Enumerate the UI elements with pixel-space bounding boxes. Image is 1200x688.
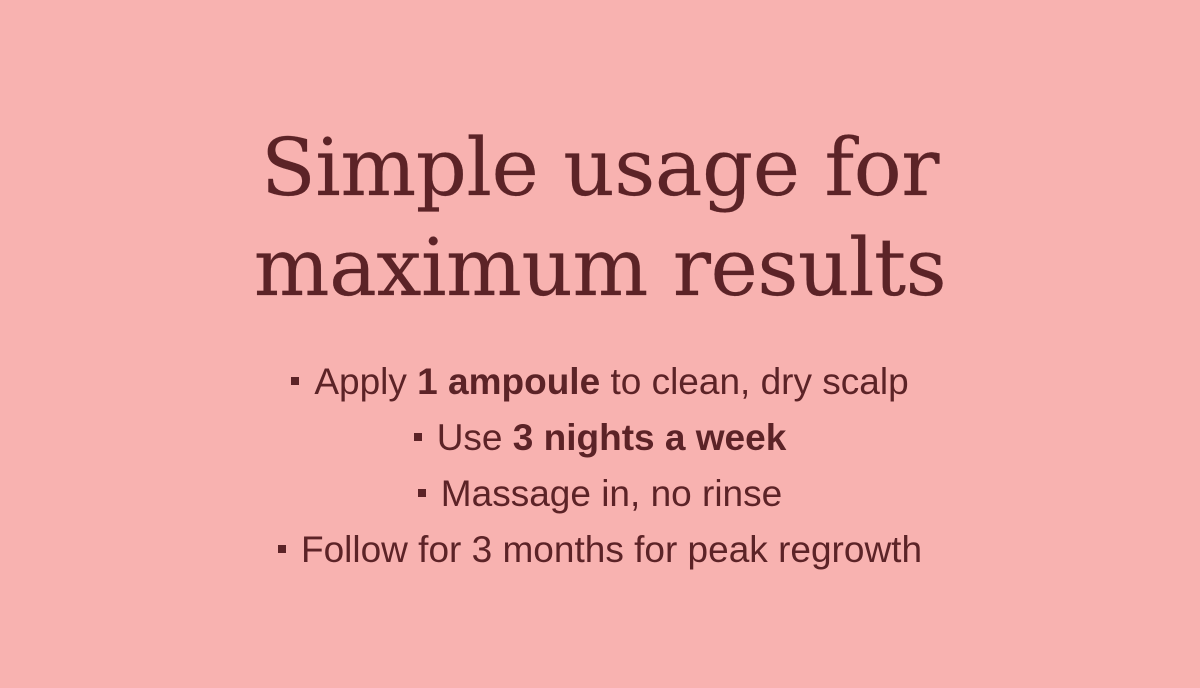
list-item-text-before: Apply bbox=[314, 361, 417, 402]
page-title-line-1: Simple usage for bbox=[0, 118, 1200, 218]
list-item-text-after: to clean, dry scalp bbox=[600, 361, 908, 402]
list-item-text-before: Follow for 3 months for peak regrowth bbox=[301, 529, 922, 570]
list-item: Apply 1 ampoule to clean, dry scalp bbox=[0, 354, 1200, 410]
square-bullet-icon bbox=[418, 489, 426, 497]
list-item-text: Follow for 3 months for peak regrowth bbox=[301, 529, 922, 570]
list-item: Use 3 nights a week bbox=[0, 410, 1200, 466]
list-item-text: Massage in, no rinse bbox=[441, 473, 782, 514]
page-title: Simple usage for maximum results bbox=[0, 0, 1200, 318]
page-title-line-2: maximum results bbox=[0, 218, 1200, 318]
list-item-text-before: Massage in, no rinse bbox=[441, 473, 782, 514]
list-item-text: Use 3 nights a week bbox=[437, 417, 787, 458]
list-item-text: Apply 1 ampoule to clean, dry scalp bbox=[314, 361, 908, 402]
list-item-emphasis: 1 ampoule bbox=[417, 361, 600, 402]
usage-steps-list: Apply 1 ampoule to clean, dry scalp Use … bbox=[0, 318, 1200, 578]
list-item: Follow for 3 months for peak regrowth bbox=[0, 522, 1200, 578]
square-bullet-icon bbox=[278, 545, 286, 553]
list-item-emphasis: 3 nights a week bbox=[513, 417, 787, 458]
list-item: Massage in, no rinse bbox=[0, 466, 1200, 522]
square-bullet-icon bbox=[414, 433, 422, 441]
list-item-text-before: Use bbox=[437, 417, 513, 458]
usage-instructions-slide: Simple usage for maximum results Apply 1… bbox=[0, 0, 1200, 688]
square-bullet-icon bbox=[291, 377, 299, 385]
